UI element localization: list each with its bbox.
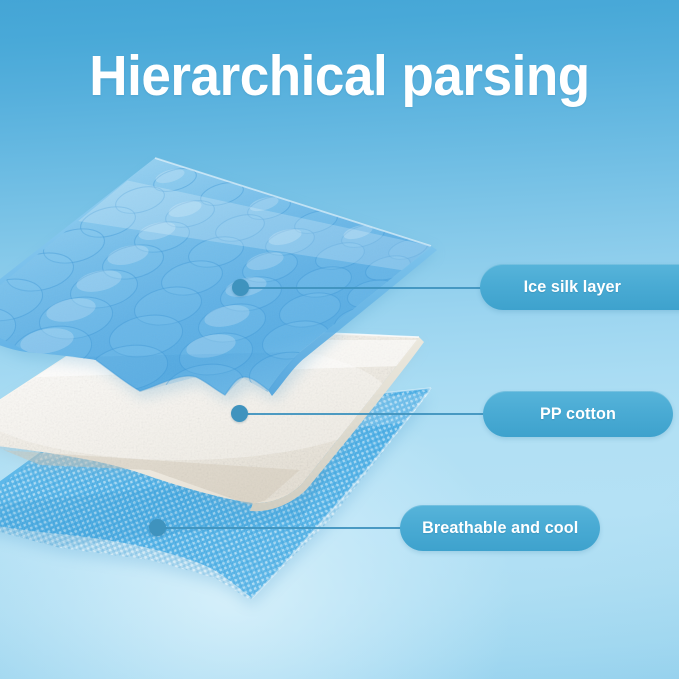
leader-line-breathable <box>163 527 406 529</box>
leader-dot-breathable <box>149 519 166 536</box>
product-infographic: Hierarchical parsing <box>0 0 679 679</box>
callout-label-breathable: Breathable and cool <box>422 518 578 538</box>
callout-ice-silk-layer[interactable]: Ice silk layer <box>480 264 679 310</box>
callout-breathable-and-cool[interactable]: Breathable and cool <box>400 505 600 551</box>
callout-pp-cotton[interactable]: PP cotton <box>483 391 673 437</box>
leader-line-ice-silk <box>246 287 484 289</box>
product-illustration <box>0 0 679 679</box>
leader-line-pp-cotton <box>245 413 487 415</box>
leader-dot-pp-cotton <box>231 405 248 422</box>
callout-label-ice-silk: Ice silk layer <box>523 277 620 297</box>
callout-label-pp-cotton: PP cotton <box>540 404 616 424</box>
leader-dot-ice-silk <box>232 279 249 296</box>
